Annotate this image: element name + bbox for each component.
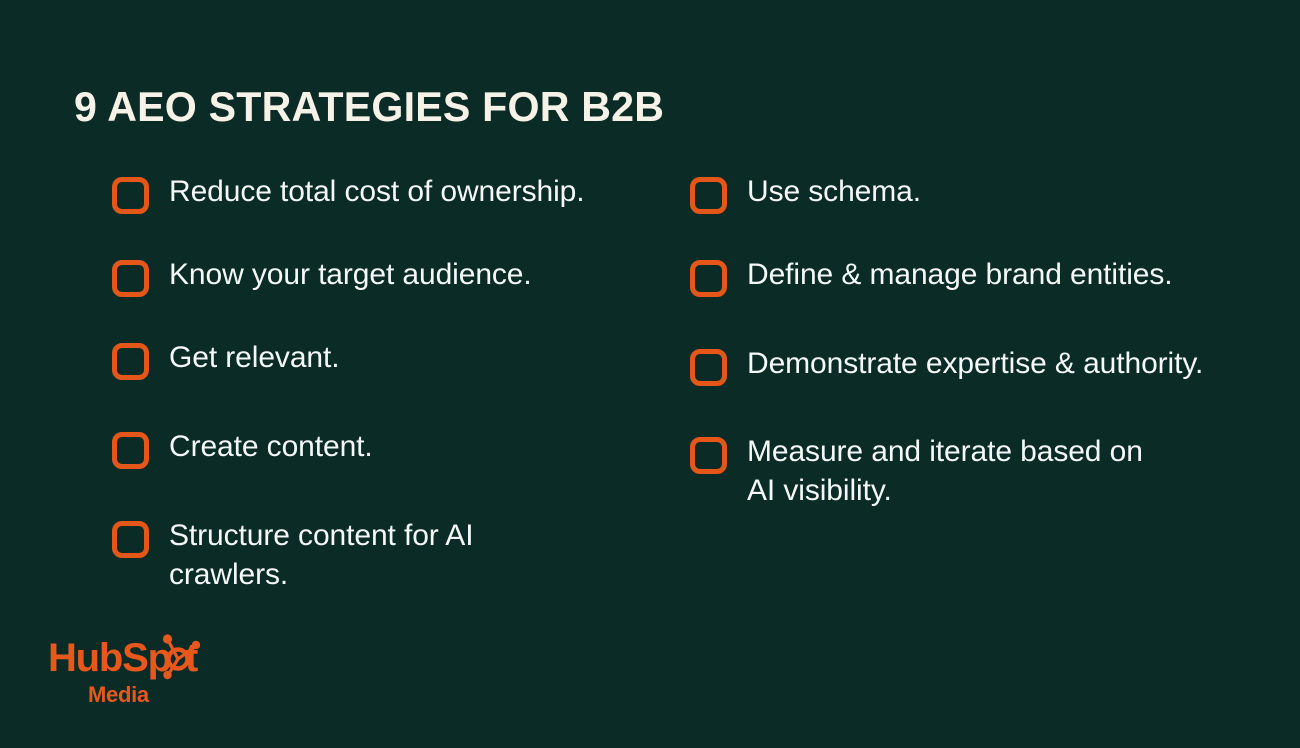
checkbox-icon[interactable] <box>112 177 149 214</box>
checklist-item[interactable]: Create content. <box>112 427 373 469</box>
checklist-item[interactable]: Know your target audience. <box>112 255 532 297</box>
checklist-item-label: Create content. <box>169 427 373 466</box>
hubspot-media-logo[interactable]: HubSp t Media <box>48 636 228 706</box>
slide-canvas: 9 AEO STRATEGIES FOR B2B Reduce total co… <box>0 0 1300 748</box>
checklist-item[interactable]: Demonstrate expertise & authority. <box>690 344 1203 386</box>
checklist-item[interactable]: Reduce total cost of ownership. <box>112 172 584 214</box>
checkbox-icon[interactable] <box>690 260 727 297</box>
hubspot-wordmark: HubSp t <box>48 636 213 680</box>
checkbox-icon[interactable] <box>690 349 727 386</box>
checklist-item[interactable]: Get relevant. <box>112 338 339 380</box>
checklist-item-label: Know your target audience. <box>169 255 532 294</box>
checklist-item-label: Reduce total cost of ownership. <box>169 172 584 211</box>
checklist-item-label: Use schema. <box>747 172 921 211</box>
checklist-item[interactable]: Define & manage brand entities. <box>690 255 1173 297</box>
logo-sublabel: Media <box>88 682 149 708</box>
checkbox-icon[interactable] <box>112 260 149 297</box>
page-title: 9 AEO STRATEGIES FOR B2B <box>74 86 664 128</box>
hubspot-sprocket-icon <box>156 630 200 680</box>
checkbox-icon[interactable] <box>112 343 149 380</box>
checklist-item-label: Get relevant. <box>169 338 339 377</box>
checklist-item-label: Measure and iterate based on AI visibili… <box>747 432 1143 510</box>
checkbox-icon[interactable] <box>112 432 149 469</box>
checkbox-icon[interactable] <box>690 177 727 214</box>
checkbox-icon[interactable] <box>690 437 727 474</box>
checkbox-icon[interactable] <box>112 521 149 558</box>
checklist-item[interactable]: Measure and iterate based on AI visibili… <box>690 432 1143 510</box>
checklist-columns: Reduce total cost of ownership. Know you… <box>0 164 1300 634</box>
checklist-item[interactable]: Structure content for AI crawlers. <box>112 516 473 594</box>
checklist-item-label: Structure content for AI crawlers. <box>169 516 473 594</box>
checklist-item-label: Demonstrate expertise & authority. <box>747 344 1203 383</box>
checklist-item[interactable]: Use schema. <box>690 172 921 214</box>
checklist-item-label: Define & manage brand entities. <box>747 255 1173 294</box>
hubspot-wordmark-left: HubSp <box>48 636 171 680</box>
